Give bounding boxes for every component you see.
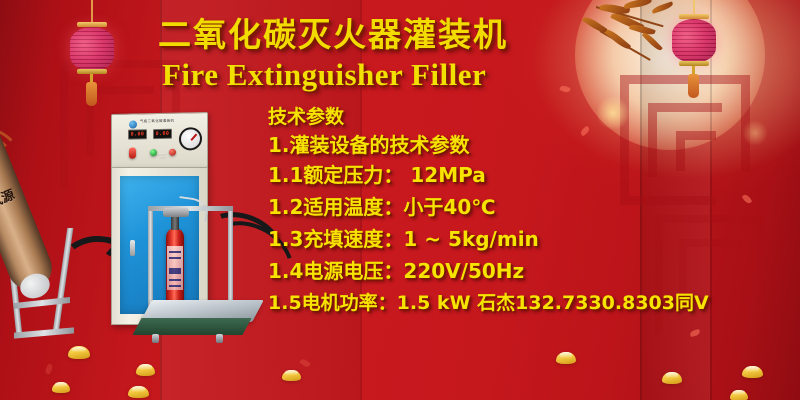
spec-item-filling-speed: 1.3充填速度：1 ~ 5kg/min [268,223,788,255]
gold-ingot-icon [136,364,155,376]
spec-item-rated-pressure: 1.1额定压力： 12MPa [268,159,788,191]
poster-canvas: 气源 气瓶二氧化碳灌装机 0.00 0.00 ·················… [0,0,800,400]
pressure-gauge [179,127,202,150]
emergency-stop-button[interactable] [129,147,136,158]
cabinet-latch[interactable] [130,240,135,256]
caster-wheel [216,334,223,343]
gold-ingot-icon [730,390,748,400]
panel-brand-text: 气瓶二氧化碳灌装机 [140,119,174,125]
spec-item-supply-voltage: 1.4电源电压：220V/50Hz [268,255,788,287]
spec-heading: 技术参数 [268,104,788,130]
gold-ingot-icon [742,366,763,378]
gold-ingot-icon [68,346,90,359]
gold-ingot-icon [556,352,576,364]
spec-section-number: 1.灌装设备的技术参数 [268,131,788,159]
scale-frame-right [228,206,233,310]
gold-ingot-icon [128,386,149,398]
panel-footnote: ······················ [156,154,167,161]
spec-item-motor-power: 1.5电机功率：1.5 kW 石杰132.7330.8303同V [268,287,788,319]
display-left: 0.00 [128,129,147,139]
petal [44,363,54,375]
page-title: 二氧化碳灭火器灌装机 [158,8,678,56]
gold-ingot-icon [282,370,301,381]
scale-frame-left [148,206,153,310]
display-right: 0.00 [153,129,172,139]
stand-rail [14,327,74,338]
caster-wheel [152,334,159,343]
gold-ingot-icon [662,372,682,384]
spec-list: 技术参数 1.灌装设备的技术参数 1.1额定压力： 12MPa 1.2适用温度：… [268,104,788,319]
stop-button[interactable] [169,149,176,156]
scale-base [132,318,251,335]
extinguisher-label [167,246,183,290]
gold-ingot-icon [52,382,70,393]
control-panel: 气瓶二氧化碳灌装机 0.00 0.00 ····················… [111,112,208,170]
page-subtitle: Fire Extinguisher Filler [162,57,722,93]
brand-logo-icon [129,120,137,128]
spec-item-temperature: 1.2适用温度：小于40℃ [268,191,788,223]
